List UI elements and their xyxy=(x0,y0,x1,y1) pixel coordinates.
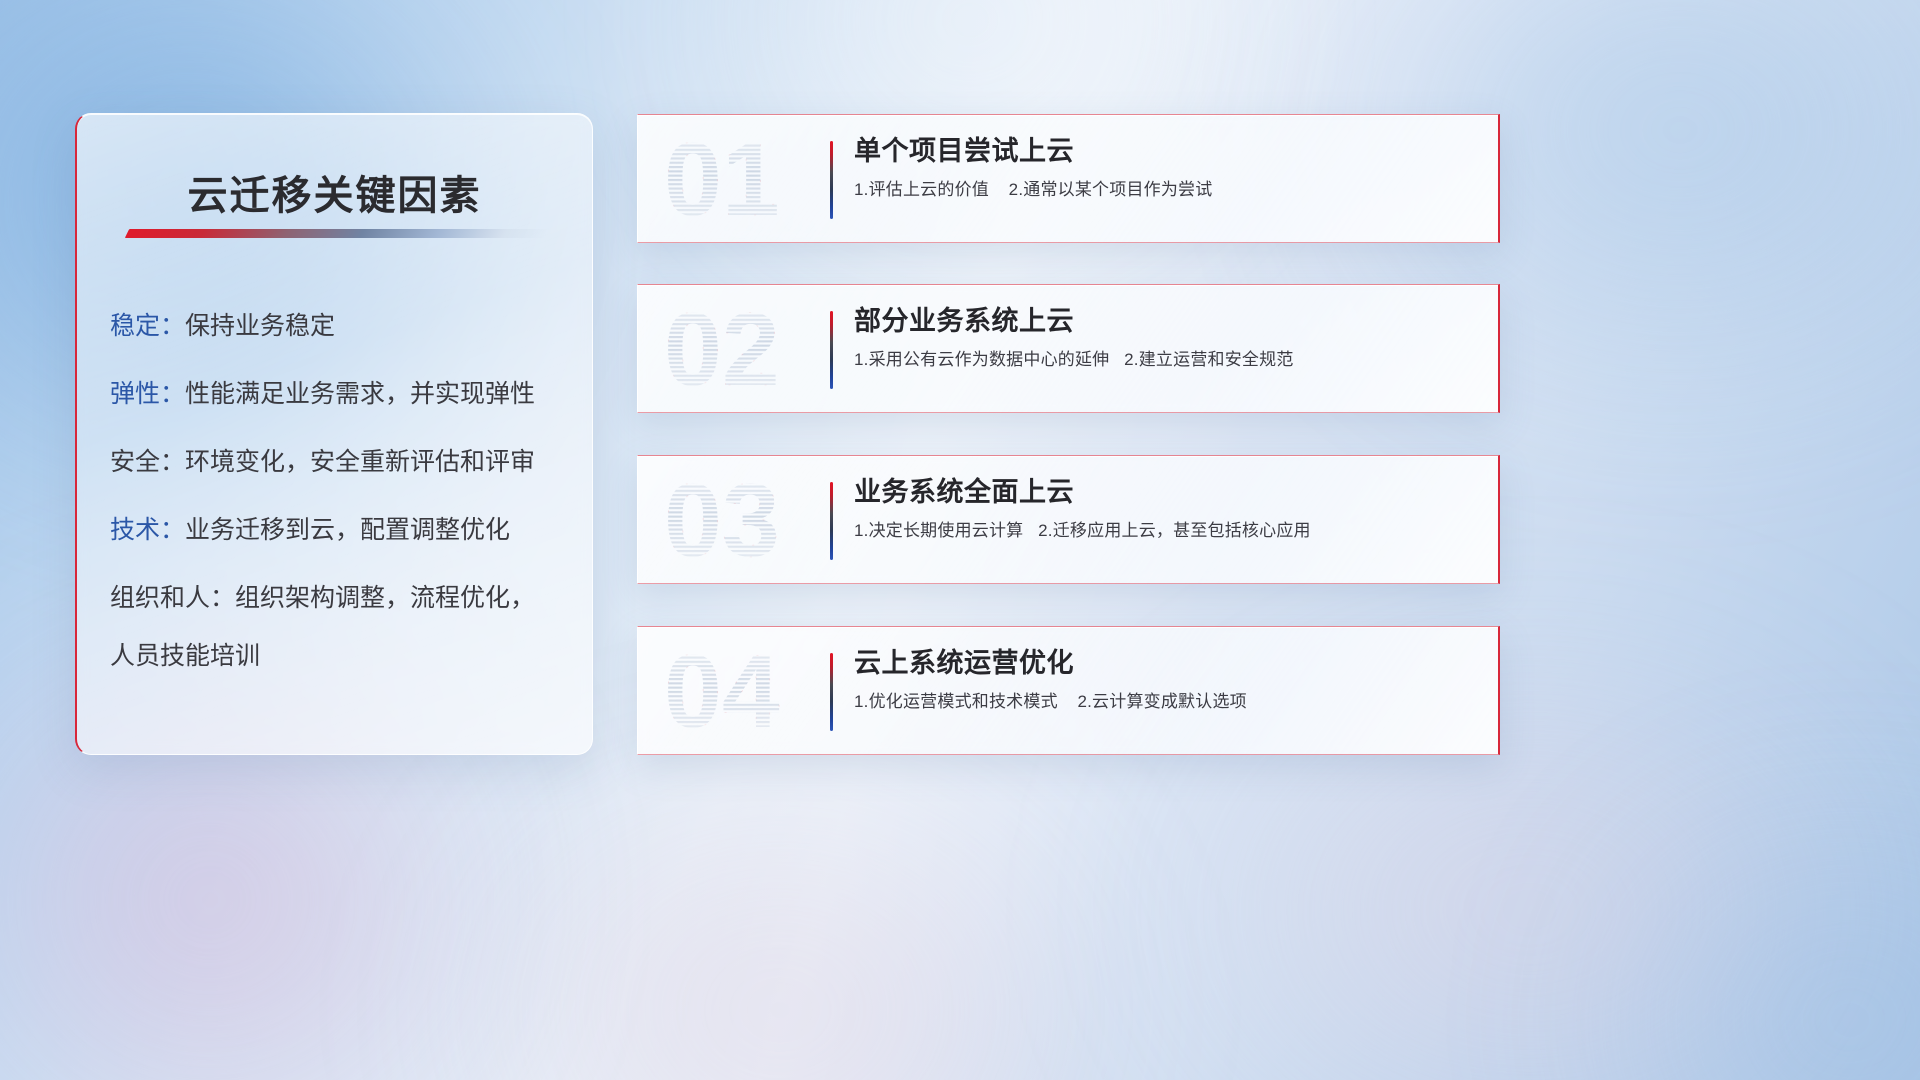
step-subtitle: 1.决定长期使用云计算 2.迁移应用上云，甚至包括核心应用 xyxy=(854,520,1480,542)
factor-text-continued: 人员技能培训 xyxy=(110,640,568,672)
key-factors-panel: 云迁移关键因素 稳定：保持业务稳定 弹性：性能满足业务需求，并实现弹性 安全：环… xyxy=(75,113,593,755)
step-content: 部分业务系统上云 1.采用公有云作为数据中心的延伸 2.建立运营和安全规范 xyxy=(854,305,1480,371)
step-subtitle: 1.优化运营模式和技术模式 2.云计算变成默认选项 xyxy=(854,691,1480,713)
title-underline-accent xyxy=(125,229,549,238)
slide-stage: 云迁移关键因素 稳定：保持业务稳定 弹性：性能满足业务需求，并实现弹性 安全：环… xyxy=(0,0,1920,1080)
factor-text: 业务迁移到云，配置调整优化 xyxy=(185,516,510,544)
step-title: 业务系统全面上云 xyxy=(854,476,1480,508)
step-divider-accent xyxy=(830,141,833,219)
factor-text: 性能满足业务需求，并实现弹性 xyxy=(185,380,535,408)
factor-item: 安全：环境变化，安全重新评估和评审 xyxy=(110,446,568,478)
factor-label: 弹性： xyxy=(110,380,185,408)
step-title: 单个项目尝试上云 xyxy=(854,135,1480,167)
step-content: 云上系统运营优化 1.优化运营模式和技术模式 2.云计算变成默认选项 xyxy=(854,647,1480,713)
panel-title: 云迁移关键因素 xyxy=(77,163,592,221)
step-number-02-icon: 02 02 xyxy=(662,293,802,405)
step-card-02[interactable]: 02 02 部分业务系统上云 1.采用公有云作为数据中心的延伸 2.建立运营和安… xyxy=(637,284,1500,413)
svg-text:04: 04 xyxy=(664,635,780,747)
step-card-03[interactable]: 03 03 业务系统全面上云 1.决定长期使用云计算 2.迁移应用上云，甚至包括… xyxy=(637,455,1500,584)
factor-list: 稳定：保持业务稳定 弹性：性能满足业务需求，并实现弹性 安全：环境变化，安全重新… xyxy=(110,310,568,672)
step-content: 单个项目尝试上云 1.评估上云的价值 2.通常以某个项目作为尝试 xyxy=(854,135,1480,201)
step-divider-accent xyxy=(830,311,833,389)
svg-text:01: 01 xyxy=(664,123,780,235)
step-content: 业务系统全面上云 1.决定长期使用云计算 2.迁移应用上云，甚至包括核心应用 xyxy=(854,476,1480,542)
factor-label: 技术： xyxy=(110,516,185,544)
step-number-01-icon: 01 01 xyxy=(662,123,802,235)
step-card-04[interactable]: 04 04 云上系统运营优化 1.优化运营模式和技术模式 2.云计算变成默认选项 xyxy=(637,626,1500,755)
step-card-01[interactable]: 01 01 单个项目尝试上云 1.评估上云的价值 2.通常以某个项目作为尝试 xyxy=(637,114,1500,243)
factor-item: 弹性：性能满足业务需求，并实现弹性 xyxy=(110,378,568,410)
factor-item: 技术：业务迁移到云，配置调整优化 xyxy=(110,514,568,546)
svg-text:03: 03 xyxy=(664,464,780,576)
svg-text:02: 02 xyxy=(664,293,780,405)
step-number-03-icon: 03 03 xyxy=(662,464,802,576)
step-title: 部分业务系统上云 xyxy=(854,305,1480,337)
step-divider-accent xyxy=(830,482,833,560)
factor-item: 稳定：保持业务稳定 xyxy=(110,310,568,342)
step-subtitle: 1.评估上云的价值 2.通常以某个项目作为尝试 xyxy=(854,179,1480,201)
factor-text: 保持业务稳定 xyxy=(185,312,335,340)
factor-label: 稳定： xyxy=(110,312,185,340)
step-number-04-icon: 04 04 xyxy=(662,635,802,747)
step-title: 云上系统运营优化 xyxy=(854,647,1480,679)
step-divider-accent xyxy=(830,653,833,731)
factor-item: 组织和人：组织架构调整，流程优化， 人员技能培训 xyxy=(110,582,568,672)
factor-text: 组织架构调整，流程优化， xyxy=(235,584,535,612)
step-subtitle: 1.采用公有云作为数据中心的延伸 2.建立运营和安全规范 xyxy=(854,349,1480,371)
factor-label: 组织和人： xyxy=(110,584,235,612)
factor-text: 环境变化，安全重新评估和评审 xyxy=(185,448,535,476)
factor-label: 安全： xyxy=(110,448,185,476)
